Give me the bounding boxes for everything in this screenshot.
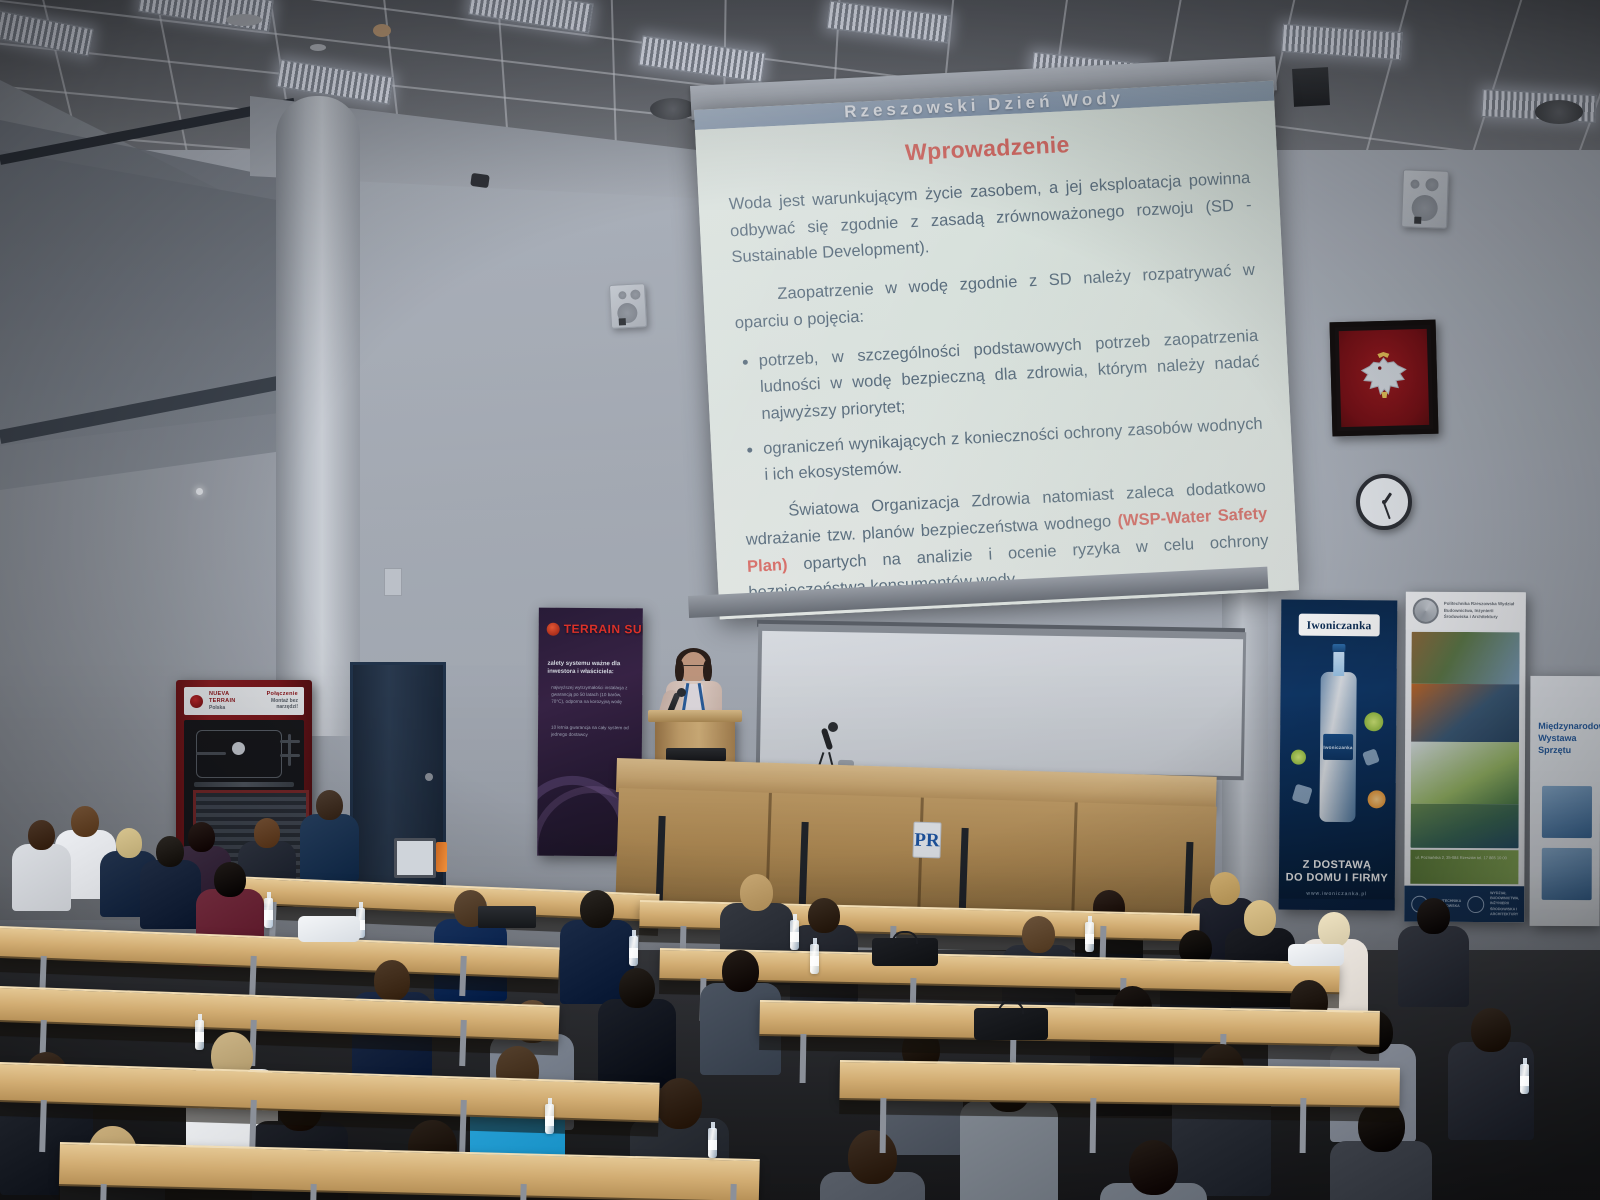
- slide-bullet-item: potrzeb, w szczególności podstawowych po…: [758, 322, 1261, 427]
- jacket-on-bench: [1288, 944, 1344, 966]
- bottle-neck: [1333, 650, 1344, 676]
- presenter-hair-side: [703, 660, 712, 682]
- bench-leg: [249, 956, 257, 996]
- edge-banner-photo: [1542, 848, 1592, 900]
- audience-member-torso: [12, 844, 71, 911]
- pipe-segment: [196, 752, 226, 755]
- microphone-head-icon: [828, 722, 838, 732]
- bottle-label-text: Iwoniczanka: [1323, 744, 1352, 749]
- cabinet-slogan: Połączenie: [256, 691, 298, 698]
- water-bottle: [708, 1128, 717, 1158]
- faculty-logo-icon: [1413, 598, 1439, 624]
- bench-leg: [800, 1034, 807, 1083]
- water-bottle: [195, 1020, 204, 1050]
- bench-leg: [729, 1184, 736, 1200]
- ceiling-fan-vent: [1535, 100, 1583, 124]
- faculty-banner-header-text: Politechnika Rzeszowska Wydział Budownic…: [1444, 601, 1519, 621]
- speaker-tweeter-icon: [1425, 178, 1438, 191]
- collage-photo: [1411, 632, 1519, 685]
- bench-leg: [519, 1184, 526, 1200]
- speaker-tweeter-icon: [618, 291, 626, 299]
- audience-member-head: [1417, 898, 1450, 934]
- audience-member-head: [619, 968, 655, 1008]
- audience-member-head: [657, 1078, 703, 1129]
- university-desk-logo: PR: [912, 822, 941, 859]
- audience-member-head: [116, 828, 143, 858]
- slide-paragraph-2: Zaopatrzenie w wodę zgodnie z SD należy …: [733, 257, 1257, 337]
- banner-bottom-strip: [1279, 898, 1395, 910]
- audience-member: [820, 1130, 925, 1200]
- collage-photo: [1411, 804, 1519, 849]
- bench-leg: [880, 1098, 887, 1153]
- speaker-tweeter-icon: [630, 289, 641, 300]
- edge-banner-line2: Wystawa: [1538, 732, 1594, 744]
- audience-member-head: [1318, 912, 1349, 947]
- eagle-icon: [1353, 347, 1415, 409]
- slide-paragraph-1: Woda jest warunkującym życie zasobem, a …: [728, 165, 1253, 271]
- pipe-segment: [288, 734, 291, 766]
- bag-handle: [892, 931, 918, 944]
- lime-slice-icon: [1364, 712, 1383, 731]
- slide-title: Wprowadzenie: [726, 122, 1249, 175]
- collage-photo: [1411, 684, 1519, 743]
- faculty-footer-right: WYDZIAŁ BUDOWNICTWA, INŻYNIERII ŚRODOWIS…: [1490, 891, 1519, 917]
- bench-leg: [99, 1184, 106, 1200]
- speaker-tweeter-icon: [1410, 179, 1419, 188]
- iwoniczanka-logo: Iwoniczanka: [1299, 614, 1380, 637]
- projection-screen: Rzeszowski Dzień Wody Wprowadzenie Woda …: [694, 81, 1299, 620]
- audience-member: [1398, 898, 1469, 1015]
- wall-sensor-light: [196, 488, 203, 495]
- terrain-banner-heading: zalety systemu ważne dla inwestora i wła…: [547, 660, 634, 677]
- audience-member-head: [1129, 1140, 1178, 1195]
- banner-faculty: Politechnika Rzeszowska Wydział Budownic…: [1404, 592, 1526, 923]
- framed-display: [394, 838, 436, 878]
- audience-member-torso: [598, 999, 676, 1088]
- edge-banner-line1: Międzynarodowa: [1538, 720, 1594, 732]
- audience-member: [1100, 1140, 1207, 1200]
- fitting-shelf: [194, 782, 294, 787]
- iwoniczanka-brand: Iwoniczanka: [1307, 620, 1372, 633]
- terrain-flame-icon: [190, 695, 203, 708]
- pipe-segment: [280, 754, 300, 757]
- bottle-cap: [1332, 644, 1345, 652]
- water-bottle: [545, 1104, 554, 1134]
- desk-logo-text: PR: [914, 830, 940, 850]
- audience-member-head: [374, 960, 411, 1001]
- cabinet-brand-plate: NUEVA TERRAIN Polska Połączenie Montaż b…: [184, 687, 304, 715]
- ceiling-vent-cap: [226, 14, 262, 26]
- banner-right-edge: Międzynarodowa Wystawa Sprzętu: [1530, 676, 1600, 926]
- audience-member-head: [1471, 1008, 1510, 1052]
- edge-banner-title: Międzynarodowa Wystawa Sprzętu: [1538, 720, 1594, 757]
- microphone-head-icon: [677, 688, 686, 697]
- presenter-glasses: [682, 665, 705, 671]
- column-center: [276, 96, 360, 736]
- terrain-banner-logo: TERRAIN SUP: [547, 622, 637, 637]
- speaker-led-icon: [619, 318, 626, 325]
- audience-member-head: [722, 950, 759, 992]
- audience-member-torso: [140, 860, 201, 929]
- audience-member-torso: [300, 814, 359, 881]
- audience-member-head: [1244, 900, 1276, 936]
- faculty-logo-icon: [1467, 896, 1484, 913]
- cabinet-brand-country: Polska: [209, 705, 250, 711]
- speaker-led-icon: [1414, 217, 1421, 224]
- water-bottle: [629, 936, 638, 966]
- audience-member-torso: [1398, 926, 1469, 1007]
- presentation-slide: Rzeszowski Dzień Wody Wprowadzenie Woda …: [694, 81, 1299, 620]
- cabinet-brand-name: NUEVA TERRAIN: [209, 691, 250, 705]
- audience-member-head: [808, 898, 839, 933]
- lecture-bench: [839, 1060, 1399, 1106]
- projector-mount: [1292, 67, 1330, 107]
- laptop-on-bench: [478, 906, 536, 928]
- bench-leg: [459, 1020, 467, 1066]
- audience-member-head: [254, 818, 281, 848]
- terrain-banner-brand: TERRAIN SUP: [564, 622, 643, 637]
- expansion-vessel-icon: [232, 742, 245, 755]
- audience-member-head: [316, 790, 343, 820]
- juice-bottle: [436, 842, 447, 872]
- bag-handle: [998, 1001, 1024, 1014]
- bottle-label: Iwoniczanka: [1323, 734, 1353, 760]
- terrain-banner-bullet: najwyższej wytrzymałości instalacja z gw…: [551, 684, 634, 706]
- wall-switch-box: [384, 568, 402, 596]
- edge-banner-photo: [1542, 786, 1592, 838]
- terrain-banner-bullet: 10 letnia gwarancja na cały system od je…: [551, 724, 634, 739]
- ice-cube-icon: [1362, 748, 1380, 766]
- right-wall-speaker: [1401, 169, 1449, 229]
- security-camera-icon: [470, 173, 490, 188]
- audience-member-head: [580, 890, 614, 928]
- iwoniczanka-cta-line2: DO DOMU I FIRMY: [1279, 871, 1395, 884]
- audience-member: [140, 836, 201, 936]
- audience-member-head: [156, 836, 184, 867]
- ceiling-sprinkler: [310, 44, 326, 51]
- bench-leg: [1090, 1098, 1097, 1153]
- clock-minute-hand: [1383, 502, 1391, 519]
- iwoniczanka-cta: Z DOSTAWĄ DO DOMU I FIRMY: [1279, 859, 1395, 885]
- audience-member-head: [740, 874, 773, 911]
- lecture-hall-photo: Rzeszowski Dzień Wody Wprowadzenie Woda …: [0, 0, 1600, 1200]
- polish-eagle-emblem: [1330, 320, 1439, 437]
- ceiling-fan-vent: [650, 98, 696, 120]
- audience-member-head: [1022, 916, 1055, 953]
- terrain-flame-icon: [547, 622, 560, 635]
- audience-member-head: [28, 820, 55, 850]
- slide-body: Wprowadzenie Woda jest warunkującym życi…: [695, 101, 1299, 620]
- audience-member-head: [214, 862, 245, 897]
- faculty-banner-header: Politechnika Rzeszowska Wydział Budownic…: [1406, 592, 1526, 631]
- lime-slice-icon: [1291, 750, 1306, 765]
- cabinet-sub-slogan: Montaż bez narzędzi!: [256, 698, 298, 711]
- faculty-banner-green-band: ul. Poznańska 2, 35-084 Rzeszów tel. 17 …: [1410, 850, 1518, 885]
- faculty-banner-address: ul. Poznańska 2, 35-084 Rzeszów tel. 17 …: [1415, 855, 1506, 861]
- ice-cube-icon: [1292, 784, 1313, 805]
- water-bottle: [1520, 1064, 1529, 1094]
- lectern-top: [648, 710, 742, 722]
- audience-member-head: [848, 1130, 896, 1184]
- water-bottle: [810, 944, 819, 974]
- jacket-on-bench: [298, 916, 360, 942]
- faculty-banner-photo-collage: [1411, 632, 1520, 849]
- collage-photo: [1411, 742, 1519, 805]
- iwoniczanka-cta-line1: Z DOSTAWĄ: [1279, 859, 1395, 872]
- door-knob[interactable]: [425, 773, 433, 781]
- bench-leg: [1300, 1098, 1307, 1153]
- water-bottle-graphic: Iwoniczanka: [1319, 672, 1356, 822]
- slide-bullet-list: potrzeb, w szczególności podstawowych po…: [736, 322, 1264, 490]
- handbag: [974, 1008, 1048, 1040]
- bench-leg: [309, 1184, 316, 1200]
- water-bottle: [790, 920, 799, 950]
- audience-member: [12, 820, 71, 918]
- ceiling-smoke-detector: [373, 24, 391, 37]
- pipe-segment: [280, 740, 300, 743]
- iwoniczanka-url: www.iwoniczanka.pl: [1279, 890, 1395, 897]
- edge-banner-line3: Sprzętu: [1538, 744, 1594, 756]
- water-bottle: [1085, 922, 1094, 952]
- handbag: [872, 938, 938, 966]
- emblem-inner: [1339, 329, 1429, 427]
- left-wall-speaker: [609, 283, 647, 329]
- orange-slice-icon: [1368, 790, 1386, 808]
- wall-clock: [1356, 474, 1412, 530]
- banner-iwoniczanka: Iwoniczanka Iwoniczanka Z DOSTAWĄ DO DOM…: [1279, 599, 1398, 910]
- audience-member: [300, 790, 359, 888]
- water-bottle: [264, 898, 273, 928]
- presenter-hair-side: [675, 660, 684, 682]
- audience-member-head: [71, 806, 99, 837]
